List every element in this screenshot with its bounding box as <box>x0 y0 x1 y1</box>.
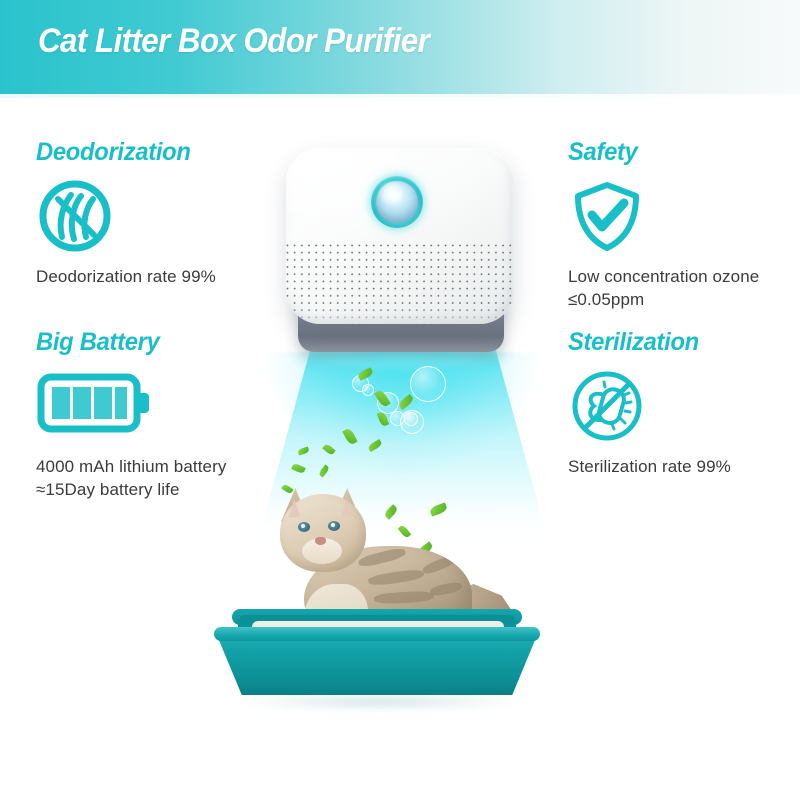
header-banner: Cat Litter Box Odor Purifier <box>0 0 800 94</box>
cat-eye-left <box>298 522 310 532</box>
feature-description: Low concentration ozone ≤0.05ppm <box>568 265 800 312</box>
battery-full-icon <box>36 367 336 445</box>
power-button-glow <box>378 180 404 206</box>
shield-check-icon <box>568 177 800 255</box>
feature-title: Deodorization <box>36 140 321 165</box>
page-title: Cat Litter Box Odor Purifier <box>38 22 429 61</box>
feature-description: Deodorization rate 99% <box>36 265 336 288</box>
power-button[interactable] <box>365 170 429 234</box>
feature-deodorization: Deodorization Deodorization rate 99% <box>36 140 336 288</box>
cat-eye-right <box>328 521 340 531</box>
bubble <box>410 366 446 402</box>
feature-safety: Safety Low concentration ozone ≤0.05ppm <box>568 140 800 312</box>
product-infographic: Cat Litter Box Odor Purifier <box>0 0 800 800</box>
litter-tray-front <box>216 633 538 695</box>
feature-line: Deodorization rate 99% <box>36 267 216 286</box>
no-bacteria-icon <box>568 367 800 445</box>
cat-litter-scene <box>0 470 800 760</box>
odor-waves-circle-icon <box>36 177 336 255</box>
feature-sterilization: Sterilization Sterilization rate 99% <box>568 330 800 478</box>
feature-line: Low concentration ozone <box>568 265 800 288</box>
feature-title: Big Battery <box>36 330 321 355</box>
bubble <box>404 412 418 426</box>
teal-litter-tray <box>212 615 542 715</box>
litter-tray-top-rim <box>214 627 540 641</box>
feature-line: ≤0.05ppm <box>568 288 800 311</box>
feature-title: Safety <box>568 140 800 165</box>
feature-title: Sterilization <box>568 330 800 355</box>
litter-tray-shadow <box>240 693 520 711</box>
cat-nose <box>315 537 326 545</box>
header-bottom-edge <box>0 94 800 98</box>
